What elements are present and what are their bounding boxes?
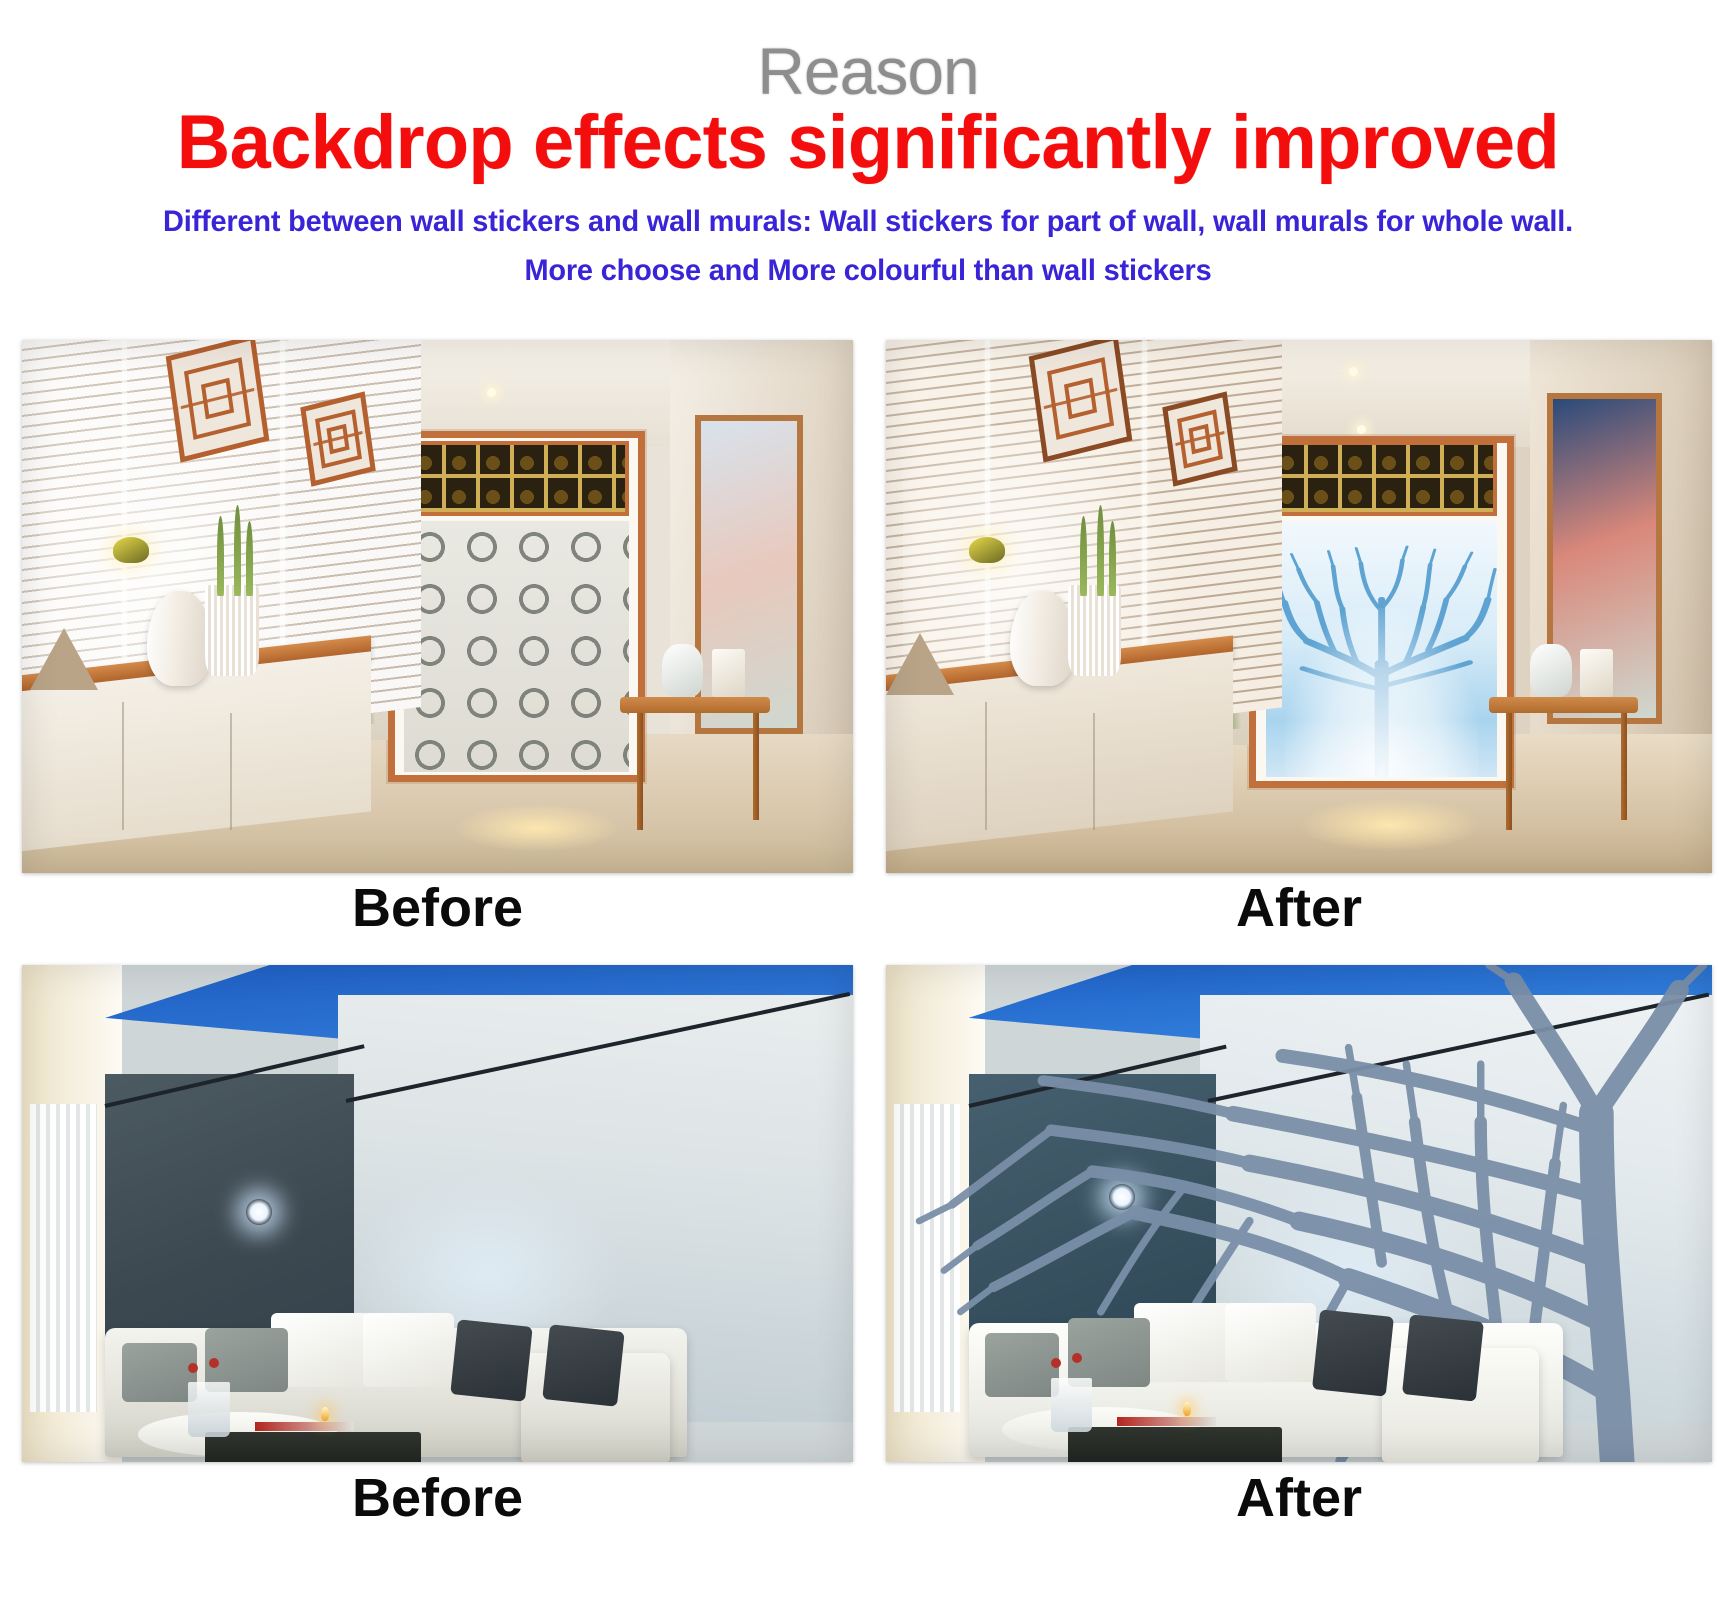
cabinet-seam: [230, 713, 232, 830]
table-leg: [753, 713, 759, 820]
sofa-cushion: [363, 1313, 454, 1388]
mural-fog: [1284, 608, 1478, 777]
decor-cone: [886, 633, 954, 695]
book: [1117, 1417, 1216, 1426]
caption-hallway-after: After: [886, 878, 1712, 938]
plant-leaf: [1109, 521, 1116, 596]
promo-banner: Reason Backdrop effects significantly im…: [0, 0, 1736, 1600]
eyebrow-title: Reason: [0, 36, 1736, 106]
wall-lamp-icon: [113, 537, 149, 563]
side-table: [1489, 697, 1638, 713]
side-table: [620, 697, 770, 713]
photo-living-room-before: [22, 965, 853, 1462]
lattice-ornament-icon: [300, 391, 376, 486]
blue-tree-mural: [1266, 521, 1497, 777]
caption-living-room-before: Before: [22, 1468, 853, 1528]
lattice-ornament-icon: [1162, 391, 1238, 486]
table-leg: [637, 713, 643, 830]
flower-icon: [1051, 1358, 1061, 1368]
spotlight-icon: [246, 1199, 272, 1225]
cabinet-seam: [1093, 713, 1095, 830]
wall-seam: [280, 340, 285, 692]
photo-living-room-after: [886, 965, 1712, 1462]
white-vase: [1010, 591, 1076, 687]
candle-holder: [712, 649, 745, 697]
cabinet-seam: [122, 702, 124, 830]
radiator: [894, 1104, 960, 1412]
plant-leaf: [1097, 505, 1104, 596]
wall-lamp-icon: [969, 537, 1005, 563]
plant-leaf: [1080, 516, 1087, 596]
vase-with-flowers: [188, 1382, 230, 1437]
subtitle-line-1: Different between wall stickers and wall…: [30, 203, 1705, 241]
radiator: [30, 1104, 96, 1412]
photo-hallway-after: [886, 340, 1712, 873]
ribbed-planter: [1068, 585, 1122, 676]
white-vase: [147, 591, 213, 687]
accent-pillow: [542, 1324, 624, 1406]
decor-cone: [30, 628, 98, 690]
book: [255, 1422, 355, 1431]
header: Reason Backdrop effects significantly im…: [0, 0, 1736, 300]
coffee-table: [205, 1432, 421, 1462]
cabinet-seam: [985, 702, 987, 830]
flower-icon: [1072, 1353, 1082, 1363]
sofa-cushion: [985, 1333, 1059, 1398]
sofa-cushion: [1225, 1303, 1316, 1383]
ceramic-ornament: [662, 644, 704, 697]
sofa-cushion: [122, 1343, 197, 1403]
coffee-table: [1068, 1427, 1283, 1462]
patterned-wallpaper: [404, 521, 628, 772]
downlight-icon: [1349, 367, 1358, 376]
flower-icon: [188, 1363, 198, 1373]
floor-light-pool: [1299, 798, 1481, 851]
candle-holder: [1580, 649, 1613, 697]
spotlight-icon: [1109, 1184, 1135, 1210]
table-leg: [1621, 713, 1627, 820]
ceramic-ornament: [1530, 644, 1571, 697]
wall-seam: [985, 340, 990, 670]
wall-seam: [1142, 340, 1147, 692]
candle-flame: [321, 1407, 329, 1421]
accent-pillow: [450, 1319, 532, 1401]
vase-with-flowers: [1051, 1378, 1092, 1433]
caption-hallway-before: Before: [22, 878, 853, 938]
table-leg: [1506, 713, 1512, 830]
photo-hallway-before: [22, 340, 853, 873]
wall-seam: [122, 340, 127, 670]
caption-living-room-after: After: [886, 1468, 1712, 1528]
floor-light-pool: [454, 804, 620, 852]
accent-pillow: [1312, 1309, 1394, 1396]
subtitle-line-2: More choose and More colourful than wall…: [30, 252, 1705, 290]
page-title: Backdrop effects significantly improved: [26, 101, 1710, 185]
plant-leaf: [234, 505, 241, 596]
tile-transom: [404, 441, 628, 516]
flower-icon: [209, 1358, 219, 1368]
accent-pillow: [1402, 1314, 1484, 1401]
tile-transom: [1266, 441, 1497, 516]
ribbed-planter: [205, 585, 259, 676]
